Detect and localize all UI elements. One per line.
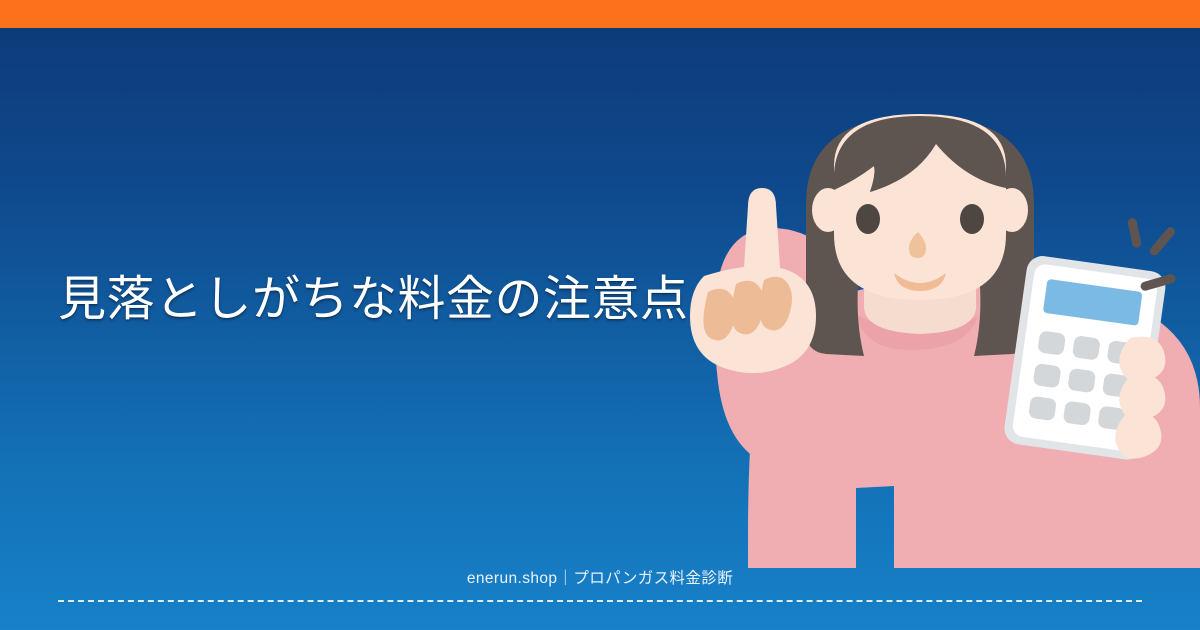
footer-brand-label: enerun.shop｜プロパンガス料金診断 [0,566,1200,588]
right-eye [960,204,984,234]
orange-accent-bar [0,0,1200,28]
page-title: 見落としがちな料金の注意点 [58,272,689,329]
footer-divider [58,600,1142,602]
footer: enerun.shop｜プロパンガス料金診断 [0,566,1200,630]
og-image-canvas: 見落としがちな料金の注意点 enerun.shop｜プロパンガス料金診断 [0,0,1200,630]
left-eye [856,204,880,234]
illustration-woman-pointing-with-calculator [660,28,1200,568]
pointing-hand [690,188,816,373]
holding-hand [1115,337,1165,459]
